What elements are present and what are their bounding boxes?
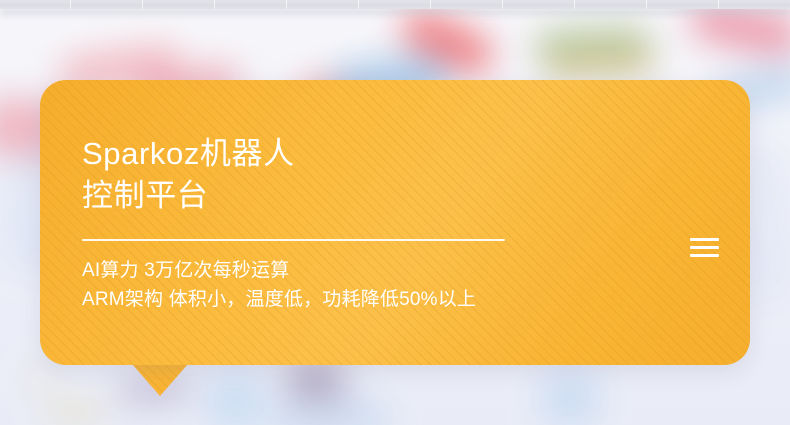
hamburger-bar-middle [690,246,719,249]
card-subtitle: AI算力 3万亿次每秒运算 ARM架构 体积小，温度低，功耗降低50%以上 [82,256,702,314]
shelf-seam [286,0,287,9]
page-title: Sparkoz机器人 控制平台 [82,133,702,217]
screenshot-stage: Sparkoz机器人 控制平台 AI算力 3万亿次每秒运算 ARM架构 体积小，… [0,0,790,425]
shelf-seam [142,0,143,9]
top-shelf-strip [0,0,790,9]
card-content: Sparkoz机器人 控制平台 AI算力 3万亿次每秒运算 ARM架构 体积小，… [82,133,702,314]
subtitle-line-2: ARM架构 体积小，温度低，功耗降低50%以上 [82,285,702,314]
speech-bubble-card: Sparkoz机器人 控制平台 AI算力 3万亿次每秒运算 ARM架构 体积小，… [40,80,750,365]
shelf-seam [646,0,647,9]
shelf-seam [358,0,359,9]
title-divider [82,239,505,241]
card-surface: Sparkoz机器人 控制平台 AI算力 3万亿次每秒运算 ARM架构 体积小，… [40,80,750,365]
top-shelf-shadow [0,9,790,19]
blue-tile-bottom-left [205,370,267,425]
olive-block-right [544,49,655,77]
shelf-seam [430,0,431,9]
blue-wash-bottom [270,400,390,425]
page-title-line-1: Sparkoz机器人 [82,136,295,171]
speech-bubble-tail [132,364,188,396]
shelf-seam [214,0,215,9]
hamburger-bar-top [690,238,719,241]
blue-tile-bottom-right [540,368,600,425]
shelf-seam [574,0,575,9]
subtitle-line-1: AI算力 3万亿次每秒运算 [82,256,702,285]
card-inner: Sparkoz机器人 控制平台 AI算力 3万亿次每秒运算 ARM架构 体积小，… [40,80,750,365]
hamburger-bar-bottom [690,254,719,257]
hamburger-menu-icon[interactable] [690,238,720,260]
yellow-smudge-left [28,365,52,389]
yellow-smudge-bottom [45,400,105,424]
shelf-seam [502,0,503,9]
shelf-seam [70,0,71,9]
page-title-line-2: 控制平台 [82,175,702,217]
shelf-seam [718,0,719,9]
